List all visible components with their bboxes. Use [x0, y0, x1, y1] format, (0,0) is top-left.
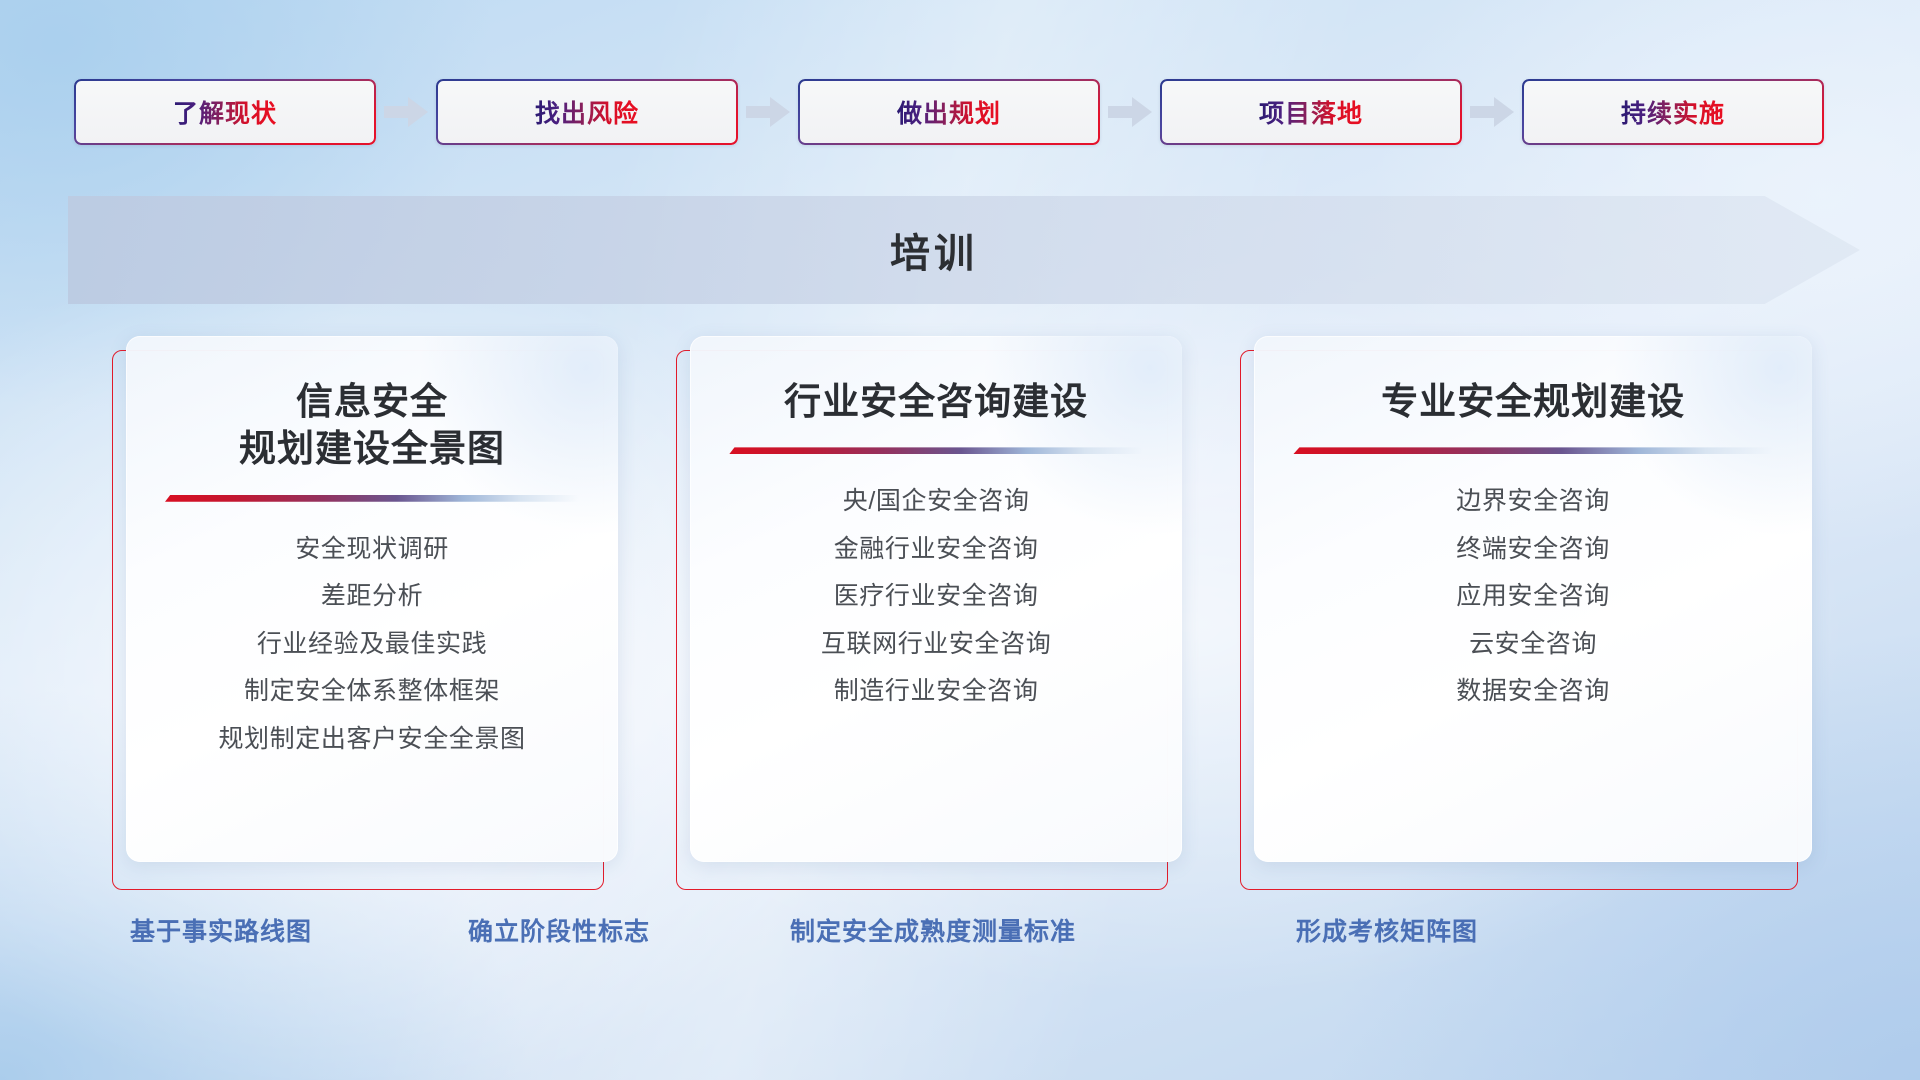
list-item: 云安全咨询 [1469, 631, 1597, 659]
list-item: 规划制定出客户安全全景图 [218, 726, 525, 754]
card-title: 行业安全咨询建设 [784, 378, 1088, 425]
process-step-1[interactable]: 了解现状 [74, 79, 376, 145]
list-item: 边界安全咨询 [1456, 488, 1610, 516]
process-step-row: 了解现状 找出风险 做出规划 项目落地 持续实施 [74, 78, 1849, 146]
list-item: 差距分析 [321, 583, 423, 611]
list-item: 终端安全咨询 [1456, 536, 1610, 564]
list-item: 制定安全体系整体框架 [244, 678, 500, 706]
card-panel: 信息安全 规划建设全景图 安全现状调研 差距分析 行业经验及最佳实践 制定安全体… [126, 336, 618, 862]
process-step-3[interactable]: 做出规划 [798, 79, 1100, 145]
card-3[interactable]: 专业安全规划建设 边界安全咨询 终端安全咨询 应用安全咨询 云安全咨询 数据安全… [1240, 336, 1812, 880]
list-item: 行业经验及最佳实践 [257, 631, 487, 659]
process-step-label: 了解现状 [173, 94, 277, 130]
card-title: 信息安全 规划建设全景图 [239, 378, 505, 473]
card-divider [1293, 447, 1773, 454]
process-step-2[interactable]: 找出风险 [436, 79, 738, 145]
arrow-right-icon [1470, 97, 1514, 127]
card-item-list: 边界安全咨询 终端安全咨询 应用安全咨询 云安全咨询 数据安全咨询 [1456, 488, 1610, 706]
list-item: 互联网行业安全咨询 [821, 631, 1051, 659]
arrow-right-icon [746, 97, 790, 127]
arrow-right-icon [1108, 97, 1152, 127]
list-item: 央/国企安全咨询 [843, 488, 1030, 516]
list-item: 安全现状调研 [295, 536, 449, 564]
footer-label-1: 基于事实路线图 [130, 912, 312, 948]
arrow-right-icon [384, 97, 428, 127]
card-1[interactable]: 信息安全 规划建设全景图 安全现状调研 差距分析 行业经验及最佳实践 制定安全体… [112, 336, 618, 880]
process-step-label: 项目落地 [1259, 94, 1363, 130]
card-title: 专业安全规划建设 [1381, 378, 1685, 425]
card-item-list: 央/国企安全咨询 金融行业安全咨询 医疗行业安全咨询 互联网行业安全咨询 制造行… [821, 488, 1051, 706]
list-item: 医疗行业安全咨询 [834, 583, 1039, 611]
card-panel: 行业安全咨询建设 央/国企安全咨询 金融行业安全咨询 医疗行业安全咨询 互联网行… [690, 336, 1182, 862]
process-step-label: 做出规划 [897, 94, 1001, 130]
list-item: 应用安全咨询 [1456, 583, 1610, 611]
footer-label-2: 确立阶段性标志 [468, 912, 650, 948]
card-panel: 专业安全规划建设 边界安全咨询 终端安全咨询 应用安全咨询 云安全咨询 数据安全… [1254, 336, 1812, 862]
card-item-list: 安全现状调研 差距分析 行业经验及最佳实践 制定安全体系整体框架 规划制定出客户… [218, 536, 525, 754]
footer-label-3: 制定安全成熟度测量标准 [790, 912, 1076, 948]
list-item: 金融行业安全咨询 [834, 536, 1039, 564]
card-row: 信息安全 规划建设全景图 安全现状调研 差距分析 行业经验及最佳实践 制定安全体… [112, 336, 1812, 880]
list-item: 制造行业安全咨询 [834, 678, 1039, 706]
card-divider [729, 447, 1143, 454]
training-banner: 培训 [68, 196, 1860, 304]
footer-label-row: 基于事实路线图 确立阶段性标志 制定安全成熟度测量标准 形成考核矩阵图 [0, 912, 1920, 964]
footer-label-4: 形成考核矩阵图 [1296, 912, 1478, 948]
card-divider [165, 495, 579, 502]
banner-title: 培训 [68, 196, 1860, 304]
list-item: 数据安全咨询 [1456, 678, 1610, 706]
process-step-label: 找出风险 [535, 94, 639, 130]
process-step-label: 持续实施 [1621, 94, 1725, 130]
card-2[interactable]: 行业安全咨询建设 央/国企安全咨询 金融行业安全咨询 医疗行业安全咨询 互联网行… [676, 336, 1182, 880]
process-step-4[interactable]: 项目落地 [1160, 79, 1462, 145]
process-step-5[interactable]: 持续实施 [1522, 79, 1824, 145]
